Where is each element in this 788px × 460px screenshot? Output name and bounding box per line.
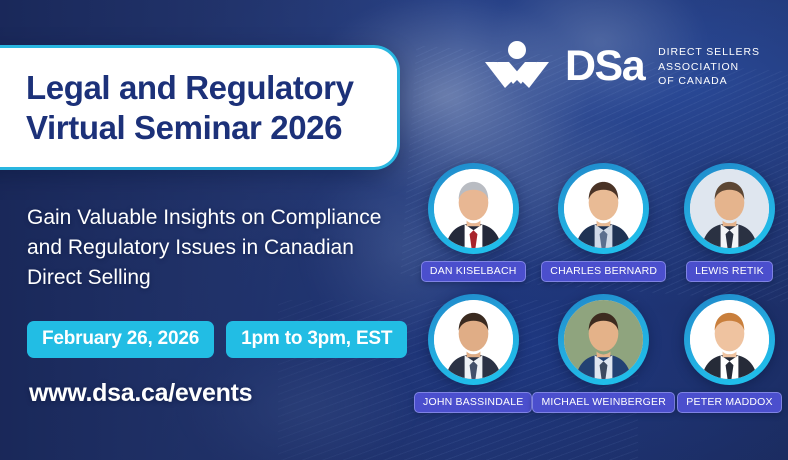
dsa-logo: DSa DIRECT SELLERS ASSOCIATION OF CANADA (483, 40, 760, 92)
speaker-name-badge: DAN KISELBACH (421, 261, 526, 282)
speaker-card[interactable]: LEWIS RETIK (675, 163, 784, 282)
avatar (434, 300, 513, 379)
event-date-badge: February 26, 2026 (27, 321, 214, 358)
page-title-line-1: Legal and Regulatory (26, 68, 397, 108)
speaker-name-badge: LEWIS RETIK (686, 261, 773, 282)
event-time-badge: 1pm to 3pm, EST (226, 321, 407, 358)
speaker-name-badge: CHARLES BERNARD (541, 261, 666, 282)
speaker-card[interactable]: JOHN BASSINDALE (414, 294, 532, 413)
dsa-figure-logo-icon (483, 40, 551, 92)
dsa-tagline: DIRECT SELLERS ASSOCIATION OF CANADA (658, 43, 760, 90)
speaker-card[interactable]: MICHAEL WEINBERGER (532, 294, 675, 413)
dsa-tagline-line-2: ASSOCIATION (658, 60, 760, 75)
speaker-card[interactable]: DAN KISELBACH (414, 163, 532, 282)
avatar (564, 169, 643, 248)
avatar-ring (428, 163, 519, 254)
speaker-name-badge: MICHAEL WEINBERGER (532, 392, 675, 413)
avatar (434, 169, 513, 248)
dsa-tagline-line-1: DIRECT SELLERS (658, 45, 760, 60)
avatar (690, 300, 769, 379)
speaker-name-badge: JOHN BASSINDALE (414, 392, 532, 413)
speaker-card[interactable]: CHARLES BERNARD (532, 163, 675, 282)
speaker-name-badge: PETER MADDOX (677, 392, 781, 413)
title-card: Legal and Regulatory Virtual Seminar 202… (0, 45, 400, 170)
speaker-grid: DAN KISELBACHCHARLES BERNARDLEWIS RETIKJ… (414, 163, 784, 413)
event-details-row: February 26, 2026 1pm to 3pm, EST (27, 321, 407, 358)
avatar-ring (684, 163, 775, 254)
dsa-tagline-line-3: OF CANADA (658, 74, 760, 89)
avatar (564, 300, 643, 379)
avatar-ring (684, 294, 775, 385)
event-url[interactable]: www.dsa.ca/events (29, 379, 252, 408)
subtitle-text: Gain Valuable Insights on Compliance and… (27, 203, 407, 292)
page-title-line-2: Virtual Seminar 2026 (26, 108, 397, 148)
seminar-promo-banner: Legal and Regulatory Virtual Seminar 202… (0, 0, 788, 460)
avatar-ring (558, 163, 649, 254)
avatar (690, 169, 769, 248)
avatar-ring (558, 294, 649, 385)
dsa-wordmark: DSa (565, 45, 644, 88)
avatar-ring (428, 294, 519, 385)
speaker-card[interactable]: PETER MADDOX (675, 294, 784, 413)
